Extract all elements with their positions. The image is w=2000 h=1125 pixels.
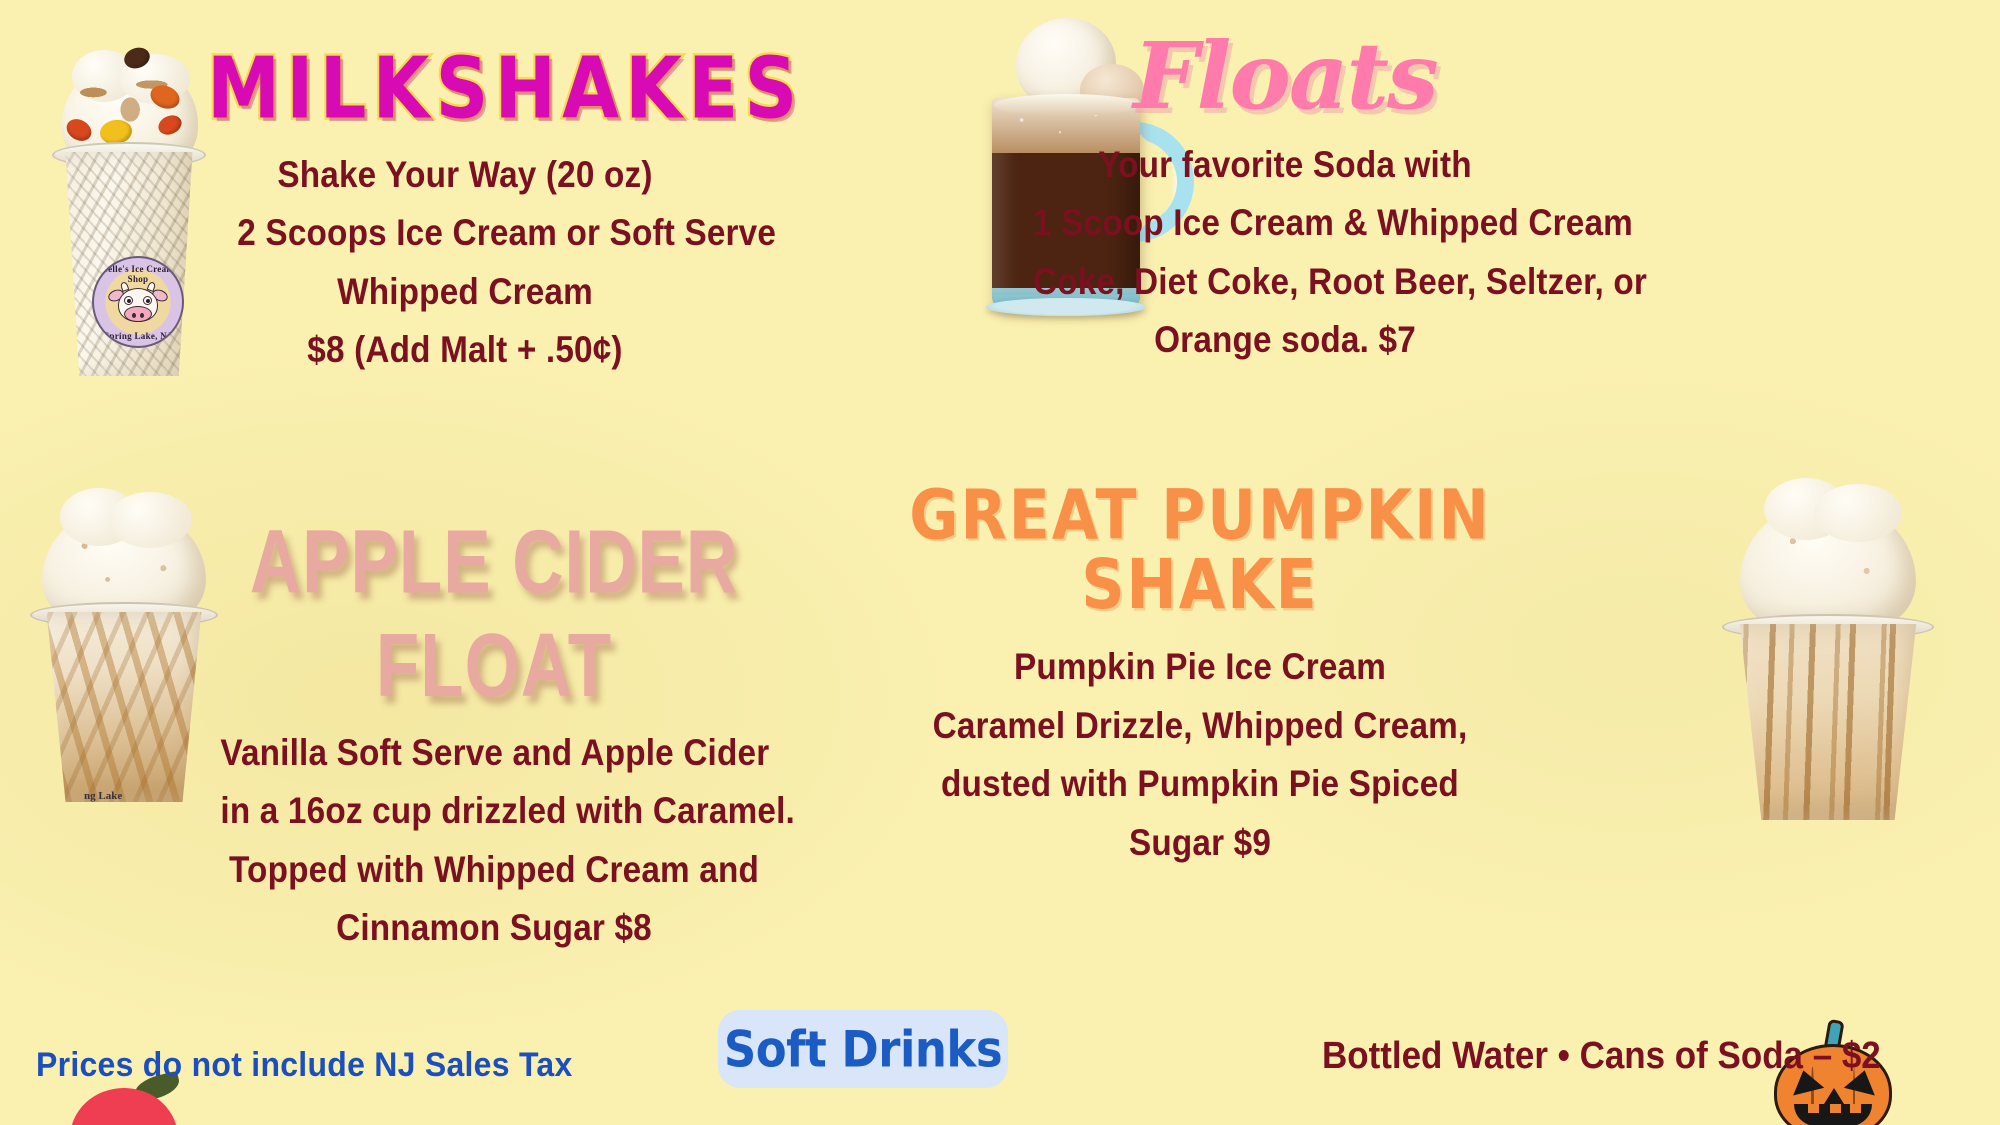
apple-line-1: Vanilla Soft Serve and Apple Cider — [220, 724, 767, 782]
apple-line-3: Topped with Whipped Cream and — [220, 841, 767, 899]
pumpkin-nose — [1824, 1088, 1844, 1104]
menu-board: Belle's Ice Cream Shop Spring Lake, NJ n… — [0, 0, 2000, 1125]
section-apple-cider-float: APPLE CIDER FLOAT Vanilla Soft Serve and… — [190, 528, 798, 958]
apple-price: Cinnamon Sugar $8 — [220, 899, 767, 957]
logo-bottom-text: Spring Lake, NJ — [94, 331, 182, 341]
floats-description: Your favorite Soda with 1 Scoop Ice Crea… — [1033, 136, 1537, 370]
floats-line-2: 1 Scoop Ice Cream & Whipped Cream — [1033, 194, 1537, 252]
floats-line-3: Coke, Diet Coke, Root Beer, Seltzer, or — [1033, 253, 1537, 311]
pumpkin-line-2: Caramel Drizzle, Whipped Cream, — [912, 697, 1488, 755]
cup-body — [1730, 624, 1926, 820]
milkshakes-price: $8 (Add Malt + .50¢) — [237, 321, 692, 379]
great-pumpkin-shake-title: GREAT PUMPKIN SHAKE — [880, 481, 1520, 621]
soft-drinks-label: Soft Drinks — [724, 1020, 1002, 1078]
milkshakes-description: Shake Your Way (20 oz) 2 Scoops Ice Crea… — [237, 146, 692, 380]
milkshakes-line-2: 2 Scoops Ice Cream or Soft Serve — [237, 204, 692, 262]
pumpkin-price: Sugar $9 — [912, 814, 1488, 872]
milkshakes-line-3: Whipped Cream — [237, 263, 692, 321]
cow-icon — [110, 280, 166, 328]
whipped-cream-spiced — [1740, 504, 1916, 628]
tax-note: Prices do not include NJ Sales Tax — [36, 1046, 573, 1085]
apple-cider-float-description: Vanilla Soft Serve and Apple Cider in a … — [220, 724, 767, 958]
belles-logo-sticker: Belle's Ice Cream Shop Spring Lake, NJ — [92, 256, 184, 348]
pumpkin-line-1: Pumpkin Pie Ice Cream — [912, 638, 1488, 696]
apple-cider-float-title: APPLE CIDER FLOAT — [202, 509, 786, 716]
pumpkin-grin — [1794, 1104, 1872, 1125]
pumpkin-line-3: dusted with Pumpkin Pie Spiced — [912, 755, 1488, 813]
milkshakes-title: MILKSHAKES — [207, 38, 723, 137]
apple-sticker — [70, 1080, 180, 1125]
section-floats: Floats Your favorite Soda with 1 Scoop I… — [1005, 22, 1565, 370]
milkshake-cup-image: Belle's Ice Cream Shop Spring Lake, NJ — [28, 24, 228, 376]
pumpkin-title-line-1: GREAT PUMPKIN — [880, 481, 1520, 551]
pumpkin-shake-cup-image — [1706, 452, 1966, 820]
section-great-pumpkin-shake: GREAT PUMPKIN SHAKE Pumpkin Pie Ice Crea… — [880, 490, 1520, 872]
pumpkin-title-line-2: SHAKE — [880, 551, 1520, 621]
section-milkshakes: MILKSHAKES Shake Your Way (20 oz) 2 Scoo… — [212, 46, 718, 380]
floats-price: Orange soda. $7 — [1033, 311, 1537, 369]
milkshakes-line-1: Shake Your Way (20 oz) — [237, 146, 692, 204]
floats-title: Floats — [1005, 22, 1565, 130]
soft-drinks-badge: Soft Drinks — [718, 1010, 1008, 1088]
great-pumpkin-shake-description: Pumpkin Pie Ice Cream Caramel Drizzle, W… — [912, 638, 1488, 872]
cup-logo-partial: ng Lake — [84, 790, 122, 802]
cup-body — [38, 612, 210, 802]
apple-line-2: in a 16oz cup drizzled with Caramel. — [220, 782, 767, 840]
floats-line-1: Your favorite Soda with — [1033, 136, 1537, 194]
bottled-water-line: Bottled Water • Cans of Soda – $2 — [1322, 1035, 1881, 1078]
